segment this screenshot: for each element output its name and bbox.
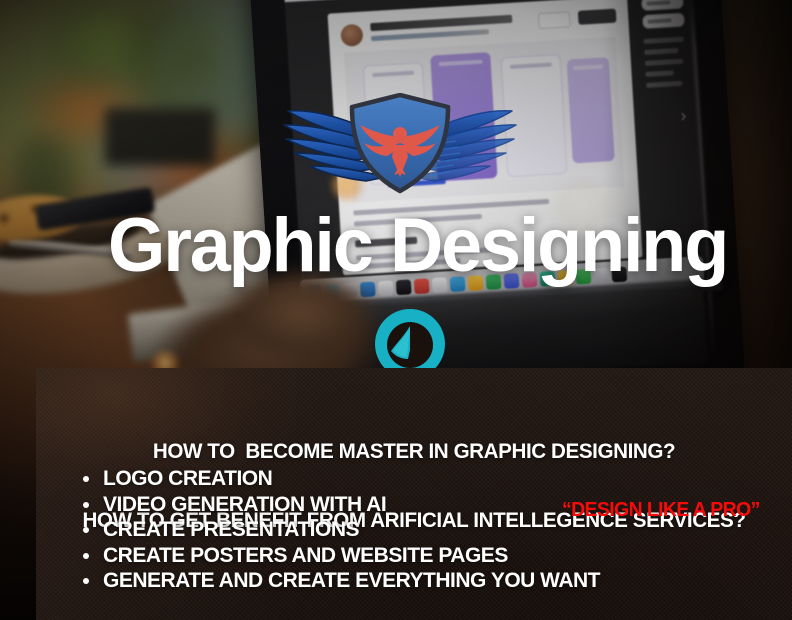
headline-line-1: HOW TO BECOME MASTER IN GRAPHIC DESIGNIN… [51,440,777,463]
poster-canvas: ✕ › [0,0,792,620]
winged-shield-eagle-emblem [280,93,520,195]
content-panel: HOW TO BECOME MASTER IN GRAPHIC DESIGNIN… [36,368,792,620]
page-title: Graphic Designing [108,206,709,286]
list-item: GENERATE AND CREATE EVERYTHING YOU WANT [83,568,600,594]
list-item: VIDEO GENERATION WITH AI [83,492,600,518]
list-item: CREATE POSTERS AND WEBSITE PAGES [83,543,600,569]
list-item: CREATE PRESENTATIONS [83,517,600,543]
tagline: “DESIGN LIKE A PRO” [562,499,760,521]
feature-list: LOGO CREATION VIDEO GENERATION WITH AI C… [63,466,600,594]
list-item: LOGO CREATION [83,466,600,492]
